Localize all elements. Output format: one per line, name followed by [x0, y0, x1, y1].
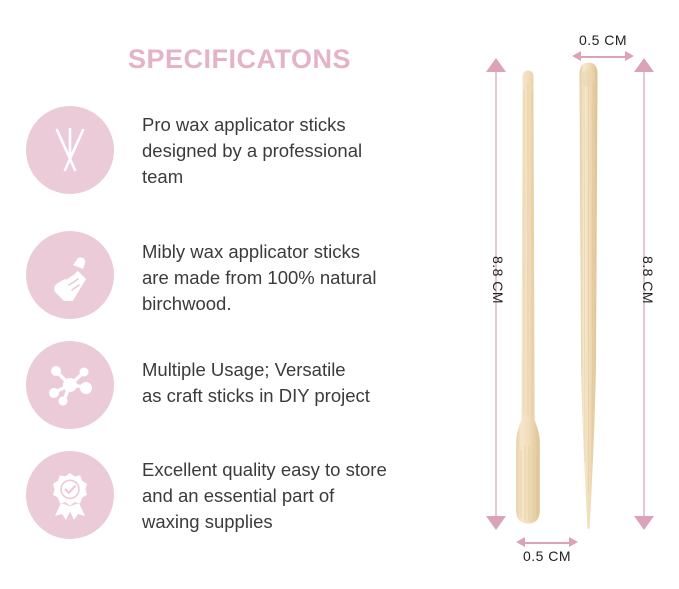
width-label-bottom: 0.5 CM [504, 548, 590, 564]
product-dimension-diagram: 8.8 CM 8.8 CM [462, 0, 679, 589]
dimension-bar [524, 542, 570, 544]
feature-item: Mibly wax applicator sticks are made fro… [26, 231, 376, 319]
feature-text: Pro wax applicator sticks designed by a … [142, 112, 362, 190]
width-label-top: 0.5 CM [560, 32, 646, 48]
arrow-right-icon [569, 537, 578, 547]
arrow-right-icon [625, 51, 634, 61]
feature-text: Multiple Usage; Versatile as craft stick… [142, 357, 370, 409]
quality-badge-icon [26, 451, 114, 539]
height-label-right: 8.8 CM [640, 240, 656, 320]
arrow-up-icon [486, 58, 506, 72]
arrow-up-icon [634, 58, 654, 72]
dimension-bar [580, 56, 626, 58]
width-dimension-top [572, 48, 634, 66]
feature-item: Multiple Usage; Versatile as craft stick… [26, 341, 370, 429]
network-hub-icon [26, 341, 114, 429]
feature-text: Excellent quality easy to store and an e… [142, 457, 387, 535]
birchwood-log-icon [26, 231, 114, 319]
page-title: SPECIFICATONS [128, 44, 351, 75]
specifications-infographic: SPECIFICATONS Pro wax applicator sticks … [0, 0, 679, 589]
spatula-stick-image [511, 70, 545, 528]
arrow-down-icon [486, 516, 506, 530]
arrow-down-icon [634, 516, 654, 530]
feature-item: Pro wax applicator sticks designed by a … [26, 106, 362, 194]
feature-item: Excellent quality easy to store and an e… [26, 451, 387, 539]
height-label-left: 8.8 CM [490, 240, 506, 320]
crossed-sticks-icon [26, 106, 114, 194]
feature-text: Mibly wax applicator sticks are made fro… [142, 239, 376, 317]
pointed-stick-image [572, 62, 606, 530]
features-panel: SPECIFICATONS Pro wax applicator sticks … [0, 0, 462, 589]
